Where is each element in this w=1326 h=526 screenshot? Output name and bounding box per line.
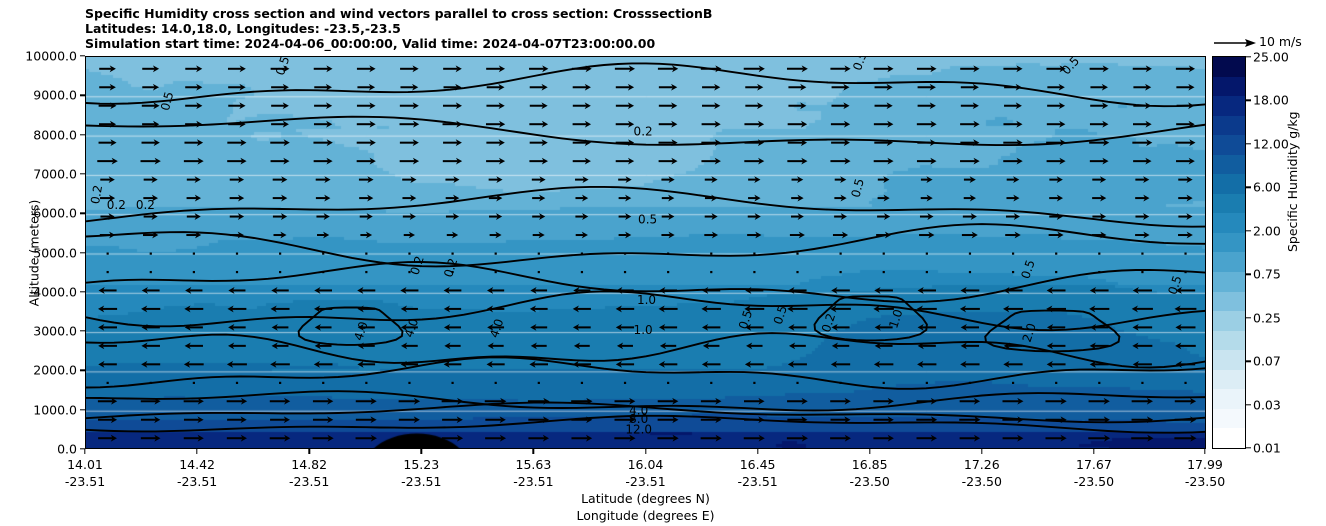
wind-vector bbox=[787, 158, 807, 165]
wind-vector bbox=[228, 342, 246, 349]
wind-vector bbox=[662, 213, 675, 220]
wind-vector bbox=[404, 232, 415, 239]
wind-vector bbox=[401, 324, 418, 331]
wind-vector bbox=[1098, 382, 1100, 384]
wind-vector bbox=[187, 195, 201, 202]
wind-vector bbox=[443, 139, 462, 146]
wind-vector bbox=[358, 306, 375, 313]
wind-vector bbox=[442, 435, 463, 442]
wind-vector bbox=[1132, 306, 1153, 313]
wind-vector bbox=[1178, 232, 1193, 239]
wind-vector bbox=[1002, 416, 1023, 423]
wind-vector bbox=[1047, 324, 1065, 331]
wind-vector bbox=[1003, 287, 1022, 294]
wind-vector bbox=[961, 102, 979, 109]
wind-vector bbox=[1047, 102, 1065, 109]
wind-vector bbox=[273, 195, 288, 202]
x-tick-mark bbox=[196, 449, 197, 454]
wind-vector bbox=[446, 213, 459, 220]
wind-vector bbox=[1184, 382, 1186, 384]
wind-vector bbox=[533, 232, 545, 239]
wind-vector bbox=[961, 342, 979, 349]
wind-vector bbox=[1090, 361, 1109, 368]
wind-vector bbox=[1178, 176, 1192, 183]
wind-vector bbox=[959, 416, 980, 423]
wind-vector bbox=[917, 361, 936, 368]
wind-vector bbox=[532, 195, 545, 202]
wind-vector bbox=[787, 416, 807, 423]
wind-vector bbox=[1005, 232, 1021, 239]
wind-vector bbox=[702, 287, 720, 294]
wind-vector bbox=[487, 361, 505, 368]
wind-vector bbox=[313, 435, 334, 442]
wind-vector bbox=[486, 121, 505, 128]
colorbar-tick-mark bbox=[1246, 404, 1251, 405]
wind-vector bbox=[150, 253, 152, 255]
wind-vector bbox=[1141, 382, 1143, 384]
wind-vector bbox=[616, 287, 634, 294]
wind-vector bbox=[271, 306, 290, 313]
wind-vector bbox=[1092, 176, 1106, 183]
wind-vector bbox=[920, 213, 934, 220]
wind-vector bbox=[1045, 416, 1066, 423]
wind-vector bbox=[616, 84, 634, 91]
wind-vector bbox=[487, 287, 504, 294]
wind-vector bbox=[702, 361, 721, 368]
wind-vector bbox=[573, 84, 591, 91]
wind-vector bbox=[227, 306, 246, 313]
x-tick-label-latitude: 17.99 bbox=[1187, 457, 1223, 472]
wind-vector bbox=[1055, 253, 1057, 255]
colorbar-segment bbox=[1213, 233, 1245, 253]
wind-vector bbox=[1006, 213, 1020, 220]
wind-vector bbox=[617, 342, 633, 349]
wind-vector bbox=[184, 416, 204, 423]
wind-vector bbox=[1088, 416, 1109, 423]
wind-vector bbox=[619, 232, 632, 239]
wind-vector bbox=[918, 287, 936, 294]
wind-vector bbox=[185, 84, 202, 91]
x-tick-label-longitude: -23.50 bbox=[1185, 474, 1225, 489]
colorbar-segment bbox=[1213, 155, 1245, 175]
right-arrow-icon bbox=[1212, 34, 1258, 52]
wind-vector bbox=[702, 324, 720, 331]
wind-vector bbox=[486, 139, 504, 146]
wind-vector bbox=[495, 253, 497, 255]
wind-vector bbox=[227, 158, 246, 165]
wind-vector bbox=[831, 139, 850, 146]
wind-vector bbox=[616, 102, 634, 109]
wind-vector bbox=[230, 213, 244, 220]
wind-vector bbox=[228, 287, 245, 294]
wind-vector bbox=[485, 416, 506, 423]
wind-vector bbox=[1090, 84, 1108, 91]
wind-vector bbox=[357, 65, 376, 72]
wind-vector bbox=[702, 121, 721, 128]
wind-vector bbox=[573, 324, 591, 331]
wind-vector bbox=[313, 139, 332, 146]
x-axis-label-longitude: Longitude (degrees E) bbox=[85, 508, 1206, 523]
wind-vector bbox=[702, 84, 720, 91]
wind-vector bbox=[487, 306, 504, 313]
x-tick-label-longitude: -23.51 bbox=[513, 474, 553, 489]
wind-vector bbox=[917, 306, 937, 313]
wind-vector bbox=[1047, 287, 1066, 294]
colorbar-tick-label: 2.00 bbox=[1253, 223, 1281, 238]
x-tick-label-longitude: -23.50 bbox=[1074, 474, 1114, 489]
wind-vector bbox=[98, 416, 117, 423]
wind-vector bbox=[142, 84, 159, 91]
wind-vector bbox=[1046, 65, 1065, 72]
wind-vector bbox=[532, 176, 546, 183]
wind-vector bbox=[99, 121, 116, 128]
wind-vector bbox=[228, 84, 245, 91]
wind-vector bbox=[661, 232, 674, 239]
wind-vector bbox=[142, 102, 160, 109]
wind-vector bbox=[919, 232, 934, 239]
wind-vector bbox=[1092, 195, 1106, 202]
wind-vector bbox=[615, 416, 636, 423]
wind-vector bbox=[1046, 306, 1066, 313]
wind-vector bbox=[792, 176, 804, 183]
wind-vector bbox=[1003, 121, 1022, 128]
wind-vector bbox=[581, 382, 583, 384]
wind-vector bbox=[141, 324, 159, 331]
wind-vector bbox=[187, 213, 201, 220]
wind-vector bbox=[1176, 287, 1195, 294]
wind-vector bbox=[833, 232, 848, 239]
wind-vector bbox=[573, 102, 591, 109]
wind-vector bbox=[447, 232, 458, 239]
wind-vector bbox=[918, 324, 936, 331]
x-tick-label-latitude: 14.01 bbox=[67, 457, 103, 472]
x-tick-mark bbox=[869, 449, 870, 454]
wind-vector bbox=[1090, 287, 1109, 294]
wind-vector bbox=[107, 382, 109, 384]
wind-vector bbox=[184, 139, 203, 146]
wind-vector bbox=[830, 435, 851, 442]
wind-vector bbox=[141, 306, 160, 313]
wind-vector bbox=[1132, 416, 1154, 423]
wind-vector bbox=[358, 324, 375, 331]
wind-vector bbox=[451, 271, 453, 273]
wind-vector bbox=[883, 253, 885, 255]
wind-vector bbox=[581, 253, 583, 255]
wind-vector bbox=[659, 121, 678, 128]
wind-vector bbox=[486, 65, 505, 72]
wind-vector bbox=[961, 84, 979, 91]
wind-vector bbox=[659, 324, 677, 331]
wind-vector bbox=[963, 213, 977, 220]
wind-vector bbox=[357, 361, 375, 368]
wind-vector bbox=[1047, 158, 1066, 165]
wind-vector bbox=[662, 195, 675, 202]
wind-vector bbox=[748, 176, 760, 183]
wind-vector bbox=[314, 158, 333, 165]
wind-vector bbox=[142, 65, 159, 72]
wind-vector bbox=[660, 342, 676, 349]
wind-vector bbox=[878, 195, 890, 202]
wind-vector bbox=[873, 416, 893, 423]
wind-vector bbox=[271, 65, 290, 72]
wind-vector bbox=[960, 306, 980, 313]
wind-vector bbox=[185, 65, 202, 72]
wind-vector bbox=[185, 287, 202, 294]
wind-vector bbox=[918, 102, 936, 109]
wind-vector bbox=[187, 176, 201, 183]
wind-vector bbox=[658, 65, 678, 72]
wind-vector bbox=[489, 176, 503, 183]
wind-vector bbox=[271, 158, 290, 165]
wind-vector bbox=[314, 306, 332, 313]
colorbar-segment bbox=[1213, 174, 1245, 194]
wind-vector bbox=[791, 213, 804, 220]
wind-vector bbox=[883, 382, 885, 384]
x-tick-mark bbox=[421, 449, 422, 454]
wind-vector bbox=[830, 306, 851, 313]
colorbar-segment bbox=[1213, 389, 1245, 409]
wind-vector bbox=[100, 213, 114, 220]
wind-vector bbox=[142, 287, 160, 294]
wind-vector bbox=[831, 102, 849, 109]
colorbar-tick-mark bbox=[1246, 56, 1251, 57]
wind-vector bbox=[830, 158, 850, 165]
wind-vector bbox=[444, 324, 461, 331]
wind-vector bbox=[365, 253, 367, 255]
wind-vector bbox=[960, 361, 979, 368]
wind-vector bbox=[916, 416, 937, 423]
wind-vector bbox=[270, 435, 291, 442]
wind-vector bbox=[576, 232, 588, 239]
wind-vector bbox=[143, 195, 158, 202]
wind-vector bbox=[400, 158, 419, 165]
wind-vector bbox=[443, 121, 463, 128]
wind-vector bbox=[488, 342, 504, 349]
wind-vector bbox=[357, 84, 375, 91]
wind-vector bbox=[964, 176, 976, 183]
wind-vector bbox=[1089, 306, 1109, 313]
colorbar-segment bbox=[1213, 350, 1245, 370]
wind-vector bbox=[314, 121, 332, 128]
wind-vector bbox=[236, 382, 238, 384]
wind-vector bbox=[184, 398, 204, 405]
wind-vector bbox=[748, 213, 761, 220]
wind-vector bbox=[1055, 271, 1057, 273]
wind-vector bbox=[573, 139, 591, 146]
wind-vector bbox=[357, 139, 376, 146]
wind-vector bbox=[528, 398, 550, 405]
wind-vector bbox=[1007, 176, 1020, 183]
wind-key-label: 10 m/s bbox=[1259, 34, 1302, 49]
wind-vector bbox=[875, 324, 893, 331]
wind-vector bbox=[796, 253, 798, 255]
wind-vector bbox=[571, 398, 592, 405]
wind-vector bbox=[874, 361, 893, 368]
wind-vector bbox=[270, 139, 290, 146]
wind-vector bbox=[1002, 398, 1023, 405]
wind-vector bbox=[271, 102, 289, 109]
y-tick-label: 2000.0 bbox=[33, 363, 77, 378]
wind-vector bbox=[444, 342, 460, 349]
wind-vector bbox=[402, 176, 416, 183]
wind-vector bbox=[703, 342, 720, 349]
wind-vector bbox=[1175, 139, 1195, 146]
wind-vector bbox=[883, 271, 885, 273]
wind-vector bbox=[710, 382, 712, 384]
wind-vector bbox=[408, 253, 410, 255]
x-tick-label-longitude: -23.51 bbox=[737, 474, 777, 489]
wind-vector bbox=[359, 176, 374, 183]
wind-vector bbox=[1098, 253, 1100, 255]
wind-vector bbox=[143, 232, 158, 239]
wind-vector bbox=[144, 176, 158, 183]
wind-vector bbox=[926, 253, 928, 255]
wind-vector bbox=[485, 398, 507, 405]
wind-vector bbox=[1131, 435, 1153, 442]
colorbar-segment bbox=[1213, 96, 1245, 116]
wind-vector bbox=[874, 139, 893, 146]
wind-vector bbox=[1174, 435, 1196, 442]
wind-vector bbox=[446, 195, 460, 202]
colorbar-tick-label: 0.75 bbox=[1253, 267, 1281, 282]
colorbar-segment bbox=[1213, 252, 1245, 272]
wind-vector bbox=[788, 102, 806, 109]
wind-vector bbox=[1178, 213, 1192, 220]
wind-vector bbox=[184, 306, 203, 313]
wind-vector bbox=[787, 398, 808, 405]
wind-vector bbox=[1004, 324, 1022, 331]
wind-vector bbox=[1047, 342, 1066, 349]
x-tick-label-longitude: -23.50 bbox=[962, 474, 1002, 489]
wind-vector bbox=[1012, 382, 1014, 384]
wind-vector bbox=[270, 416, 290, 423]
wind-vector bbox=[745, 324, 764, 331]
wind-vector bbox=[1004, 102, 1022, 109]
wind-vector bbox=[538, 253, 540, 255]
wind-vector bbox=[142, 139, 160, 146]
wind-vector bbox=[99, 287, 117, 294]
wind-vector bbox=[1132, 398, 1153, 405]
wind-vector bbox=[873, 435, 893, 442]
wind-vector bbox=[184, 158, 204, 165]
wind-vector bbox=[701, 65, 722, 72]
colorbar-tick-label: 0.03 bbox=[1253, 397, 1281, 412]
wind-vector bbox=[1049, 232, 1064, 239]
wind-vector bbox=[573, 287, 590, 294]
wind-vector bbox=[796, 382, 798, 384]
wind-vector bbox=[230, 176, 244, 183]
wind-vector bbox=[314, 102, 332, 109]
wind-vector bbox=[874, 158, 894, 165]
wind-vector bbox=[279, 382, 281, 384]
wind-vector bbox=[1092, 232, 1107, 239]
wind-vector bbox=[1175, 398, 1196, 405]
wind-vector bbox=[573, 158, 591, 165]
x-tick-label-latitude: 16.85 bbox=[852, 457, 888, 472]
wind-vector bbox=[529, 121, 548, 128]
wind-vector bbox=[443, 158, 462, 165]
wind-vector bbox=[445, 176, 459, 183]
wind-vector bbox=[701, 398, 722, 405]
wind-vector bbox=[744, 158, 764, 165]
wind-vector bbox=[358, 342, 375, 349]
colorbar-segment bbox=[1213, 331, 1245, 351]
wind-vector bbox=[316, 195, 331, 202]
wind-vector bbox=[835, 176, 847, 183]
wind-vector bbox=[961, 324, 979, 331]
wind-vector bbox=[489, 195, 502, 202]
wind-vector bbox=[960, 287, 979, 294]
wind-vector bbox=[529, 65, 548, 72]
wind-vector bbox=[1175, 416, 1197, 423]
wind-vector bbox=[753, 253, 755, 255]
wind-vector bbox=[1003, 435, 1024, 442]
wind-vector bbox=[1135, 176, 1149, 183]
x-tick-label-latitude: 16.04 bbox=[628, 457, 664, 472]
wind-vector bbox=[142, 121, 159, 128]
wind-vector bbox=[788, 361, 807, 368]
x-tick-label-latitude: 15.23 bbox=[403, 457, 439, 472]
wind-vector bbox=[141, 361, 160, 368]
wind-vector bbox=[403, 213, 416, 220]
wind-vector bbox=[313, 398, 333, 405]
wind-vector bbox=[831, 287, 850, 294]
colorbar-tick-mark bbox=[1246, 100, 1251, 101]
wind-vector bbox=[790, 232, 805, 239]
wind-vector bbox=[1045, 435, 1066, 442]
wind-vector bbox=[1003, 361, 1022, 368]
wind-vector bbox=[401, 306, 418, 313]
colorbar-tick-label: 0.01 bbox=[1253, 441, 1281, 456]
wind-vector bbox=[317, 232, 329, 239]
wind-vector bbox=[1098, 271, 1100, 273]
wind-vector bbox=[878, 176, 890, 183]
wind-vector bbox=[918, 342, 936, 349]
wind-vector bbox=[141, 342, 160, 349]
wind-vector bbox=[834, 213, 847, 220]
y-axis: Altitude (meters) 10000.09000.08000.0700… bbox=[0, 56, 85, 449]
wind-vector bbox=[400, 287, 418, 294]
wind-vector bbox=[667, 253, 669, 255]
wind-vector bbox=[575, 176, 589, 183]
wind-vector bbox=[144, 213, 158, 220]
wind-vector bbox=[661, 176, 674, 183]
wind-vector bbox=[658, 139, 677, 146]
x-tick-label-latitude: 17.26 bbox=[964, 457, 1000, 472]
wind-vector bbox=[581, 271, 583, 273]
wind-vector bbox=[917, 158, 937, 165]
wind-vector bbox=[193, 253, 195, 255]
wind-vector bbox=[98, 324, 117, 331]
wind-vector bbox=[408, 271, 410, 273]
cross-section-plot[interactable]: 0.50.50.20.20.20.20.50.50.50.50.20.21.01… bbox=[85, 56, 1206, 449]
wind-vector bbox=[529, 361, 548, 368]
wind-vector bbox=[1141, 253, 1143, 255]
wind-vector bbox=[701, 306, 720, 313]
wind-vector bbox=[1012, 271, 1014, 273]
wind-vector bbox=[874, 65, 894, 72]
wind-vector bbox=[616, 306, 635, 313]
x-tick-label-longitude: -23.51 bbox=[401, 474, 441, 489]
wind-vector bbox=[141, 416, 160, 423]
colorbar-segment bbox=[1213, 292, 1245, 312]
wind-vector bbox=[969, 382, 971, 384]
wind-vector bbox=[744, 121, 764, 128]
wind-vector bbox=[1132, 139, 1152, 146]
wind-vector bbox=[624, 382, 626, 384]
wind-vector bbox=[840, 271, 842, 273]
wind-vector bbox=[98, 398, 117, 405]
